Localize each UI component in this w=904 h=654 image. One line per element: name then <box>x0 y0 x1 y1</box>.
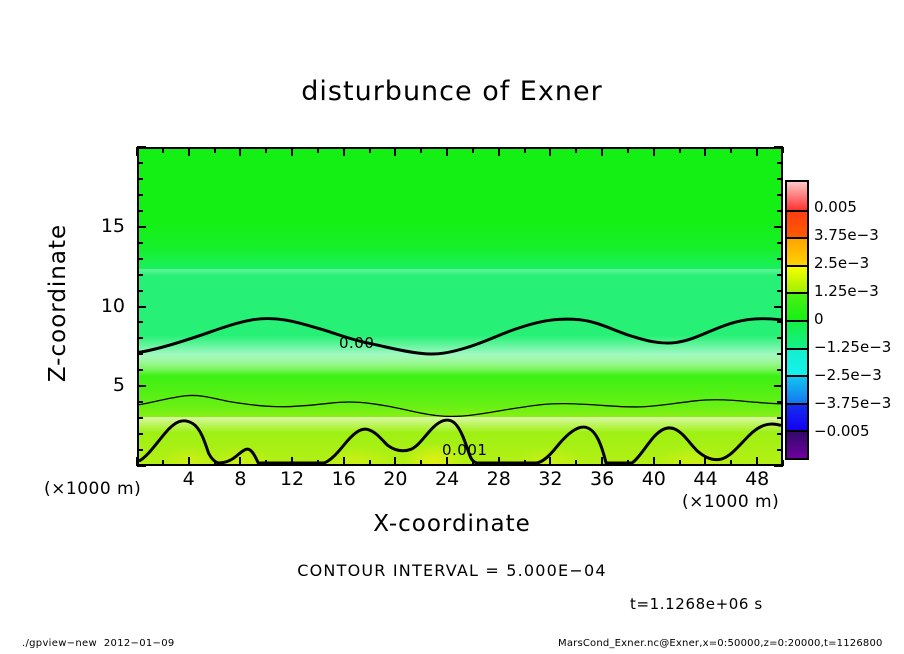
x-tick <box>343 457 345 466</box>
y-tick <box>137 210 143 212</box>
y-tick-right <box>774 385 783 387</box>
y-tick <box>137 242 143 244</box>
y-tick-right <box>777 401 783 403</box>
y-tick <box>137 449 143 451</box>
x-tick <box>498 457 500 466</box>
y-tick-right <box>777 417 783 419</box>
x-tick-label: 36 <box>582 468 622 490</box>
x-tick-top <box>420 147 422 153</box>
colorbar <box>785 180 809 460</box>
colorbar-segment <box>787 320 807 348</box>
x-tick-top <box>472 147 474 153</box>
x-tick-label: 8 <box>220 468 260 490</box>
x-tick-top <box>549 147 551 156</box>
x-tick <box>214 460 216 466</box>
y-tick-right <box>777 178 783 180</box>
x-tick-label: 32 <box>530 468 570 490</box>
x-tick <box>394 457 396 466</box>
colorbar-divider <box>787 375 807 377</box>
x-tick-top <box>291 147 293 156</box>
x-tick <box>162 460 164 466</box>
x-tick <box>265 460 267 466</box>
y-tick-right <box>777 210 783 212</box>
y-tick <box>137 385 146 387</box>
x-tick <box>679 460 681 466</box>
colorbar-divider <box>787 292 807 294</box>
y-tick-right <box>774 465 783 467</box>
contour-plot-area: 0.00 0.001 <box>137 147 783 466</box>
x-tick-top <box>446 147 448 156</box>
x-tick-label: 20 <box>375 468 415 490</box>
y-tick-right <box>774 146 783 148</box>
y-tick <box>137 290 143 292</box>
x-tick-top <box>627 147 629 153</box>
colorbar-segment <box>787 375 807 403</box>
x-tick-top <box>601 147 603 156</box>
y-tick-right <box>777 369 783 371</box>
colorbar-tick-label: 1.25e−3 <box>814 282 879 300</box>
y-tick-right <box>774 226 783 228</box>
x-tick <box>627 460 629 466</box>
y-tick-label: 10 <box>85 295 125 317</box>
contour-label-000: 0.00 <box>339 334 374 352</box>
contour-lines <box>139 149 781 464</box>
colorbar-segment <box>787 430 807 458</box>
contour-interval-label: CONTOUR INTERVAL = 5.000E−04 <box>0 561 904 580</box>
y-tick-right <box>777 290 783 292</box>
y-tick <box>137 306 146 308</box>
x-tick-top <box>239 147 241 156</box>
colorbar-segment <box>787 265 807 293</box>
y-tick-right <box>777 337 783 339</box>
y-tick <box>137 433 143 435</box>
x-tick-top <box>498 147 500 156</box>
y-tick <box>137 465 146 467</box>
x-tick-top <box>136 147 138 156</box>
x-axis-unit-left: (×1000 m) <box>44 479 141 499</box>
x-tick-top <box>265 147 267 153</box>
x-tick <box>446 457 448 466</box>
x-tick-label: 40 <box>634 468 674 490</box>
x-tick-top <box>343 147 345 156</box>
x-tick-top <box>653 147 655 156</box>
y-tick <box>137 178 143 180</box>
colorbar-divider <box>787 210 807 212</box>
colorbar-tick-label: −1.25e−3 <box>814 338 891 356</box>
colorbar-tick-label: 0.005 <box>814 198 857 216</box>
colorbar-divider <box>787 320 807 322</box>
x-tick-top <box>730 147 732 153</box>
contour-line-thin <box>139 395 781 416</box>
colorbar-tick-label: −3.75e−3 <box>814 394 891 412</box>
y-tick-right <box>774 306 783 308</box>
x-tick <box>420 460 422 466</box>
page-title: disturbunce of Exner <box>0 76 904 107</box>
x-tick-top <box>188 147 190 156</box>
x-axis-unit-right: (×1000 m) <box>682 492 779 512</box>
time-label: t=1.1268e+06 s <box>630 595 763 613</box>
y-tick <box>137 401 143 403</box>
contour-label-0001: 0.001 <box>442 441 487 459</box>
x-tick <box>472 460 474 466</box>
y-axis-title: Z-coordinate <box>45 183 71 423</box>
x-tick-label: 16 <box>324 468 364 490</box>
x-tick-top <box>369 147 371 153</box>
colorbar-divider <box>787 237 807 239</box>
x-tick <box>653 457 655 466</box>
y-tick-right <box>777 162 783 164</box>
footer-dataset-label: MarsCond_Exner.nc@Exner,x=0:50000,z=0:20… <box>558 638 883 649</box>
colorbar-segment <box>787 292 807 320</box>
x-tick <box>317 460 319 466</box>
x-tick <box>601 457 603 466</box>
y-tick <box>137 194 143 196</box>
x-tick-label: 28 <box>479 468 519 490</box>
x-tick-top <box>679 147 681 153</box>
y-tick-right <box>777 258 783 260</box>
y-tick-right <box>777 353 783 355</box>
y-tick <box>137 321 143 323</box>
x-tick-top <box>394 147 396 156</box>
y-tick <box>137 226 146 228</box>
x-tick <box>575 460 577 466</box>
x-tick-top <box>162 147 164 153</box>
x-tick-top <box>704 147 706 156</box>
colorbar-divider <box>787 403 807 405</box>
x-tick-label: 24 <box>427 468 467 490</box>
x-tick-top <box>317 147 319 153</box>
y-tick <box>137 417 143 419</box>
x-tick-top <box>524 147 526 153</box>
colorbar-tick-label: 2.5e−3 <box>814 254 869 272</box>
y-tick-right <box>777 242 783 244</box>
x-tick-label: 48 <box>737 468 777 490</box>
x-tick <box>549 457 551 466</box>
y-tick-right <box>777 433 783 435</box>
x-tick-top <box>214 147 216 153</box>
colorbar-divider <box>787 348 807 350</box>
y-tick <box>137 369 143 371</box>
contour-line-000 <box>139 319 781 354</box>
colorbar-segment <box>787 237 807 265</box>
y-tick <box>137 337 143 339</box>
x-tick-label: 4 <box>169 468 209 490</box>
x-tick <box>524 460 526 466</box>
y-tick <box>137 162 143 164</box>
x-tick <box>369 460 371 466</box>
colorbar-divider <box>787 430 807 432</box>
x-tick-label: 12 <box>272 468 312 490</box>
y-tick <box>137 258 143 260</box>
colorbar-tick-label: 0 <box>814 310 824 328</box>
colorbar-tick-label: 3.75e−3 <box>814 226 879 244</box>
y-tick <box>137 353 143 355</box>
x-tick <box>756 457 758 466</box>
y-tick-right <box>777 321 783 323</box>
x-tick <box>704 457 706 466</box>
colorbar-segment <box>787 210 807 238</box>
x-tick <box>188 457 190 466</box>
y-tick-label: 5 <box>85 374 125 396</box>
colorbar-segment <box>787 403 807 431</box>
x-tick <box>291 457 293 466</box>
colorbar-tick-label: −2.5e−3 <box>814 366 882 384</box>
y-tick <box>137 146 146 148</box>
y-tick <box>137 274 143 276</box>
x-tick <box>239 457 241 466</box>
y-tick-right <box>777 194 783 196</box>
colorbar-segment <box>787 348 807 376</box>
footer-command-label: ./gpview−new 2012−01−09 <box>22 638 175 649</box>
colorbar-divider <box>787 265 807 267</box>
y-tick-label: 15 <box>85 215 125 237</box>
x-tick <box>730 460 732 466</box>
x-tick-top <box>575 147 577 153</box>
x-axis-title: X-coordinate <box>0 511 904 537</box>
x-tick-top <box>756 147 758 156</box>
colorbar-segment <box>787 182 807 210</box>
y-tick-right <box>777 274 783 276</box>
y-tick-right <box>777 449 783 451</box>
x-tick-label: 44 <box>685 468 725 490</box>
colorbar-tick-label: −0.005 <box>814 422 870 440</box>
